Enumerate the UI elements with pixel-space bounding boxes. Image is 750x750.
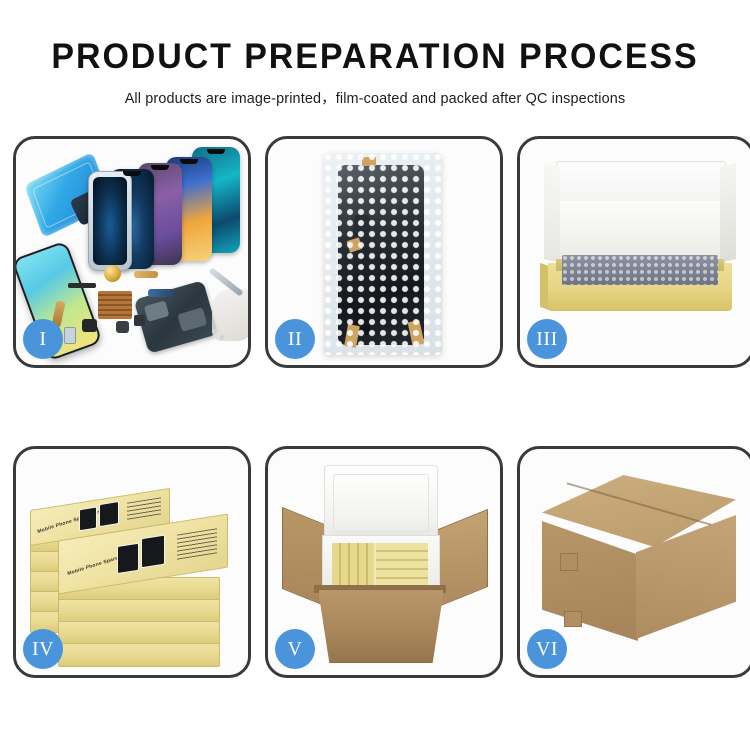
flex-cable-graphic: [134, 271, 158, 278]
camera-module-graphic: [116, 321, 129, 333]
step-badge-6: VI: [527, 629, 567, 669]
carton-left-face-graphic: [542, 521, 638, 641]
stacked-box: [58, 599, 220, 623]
packed-yellow-boxes-graphic: [332, 543, 428, 585]
chip-component-graphic: [134, 315, 145, 326]
hand-graphic: [212, 289, 248, 341]
carton-tape-patch-graphic: [560, 553, 578, 571]
bubble-wrapped-contents-graphic: [562, 255, 718, 285]
page-subtitle: All products are image-printed，film-coat…: [0, 87, 750, 108]
box-spec-lines: [177, 528, 217, 560]
boxes-vertical-group: [332, 543, 374, 585]
phone-notch-icon: [180, 159, 198, 164]
sim-tray-graphic: [64, 327, 76, 344]
process-step-panel-6[interactable]: VI: [517, 446, 750, 678]
process-step-panel-3[interactable]: III: [517, 136, 750, 368]
process-step-panel-5[interactable]: V: [265, 446, 503, 678]
process-step-panel-1[interactable]: I: [13, 136, 251, 368]
phone-notch-icon: [123, 171, 141, 176]
foam-box-lid-graphic: [324, 465, 438, 541]
box-spec-lines: [127, 497, 161, 521]
bubble-wrap-bag-graphic: [324, 153, 442, 355]
copper-shield-grid-graphic: [98, 291, 132, 319]
page-title: PRODUCT PREPARATION PROCESS: [11, 38, 739, 76]
stacked-box: [58, 621, 220, 645]
box-artwork-phone-icon: [141, 535, 165, 569]
process-step-panel-2[interactable]: II: [265, 136, 503, 368]
flex-cable-graphic: [148, 289, 174, 297]
box-lid-side-flap-graphic: [544, 163, 560, 263]
step-badge-4: IV: [23, 629, 63, 669]
box-artwork-phone-icon: [99, 501, 119, 527]
page-header: PRODUCT PREPARATION PROCESS All products…: [0, 0, 750, 108]
box-artwork-phone-icon: [117, 543, 139, 574]
step-badge-5: V: [275, 629, 315, 669]
step-badge-3: III: [527, 319, 567, 359]
carton-front-panel-graphic: [318, 589, 444, 663]
phone-notch-icon: [207, 149, 225, 154]
phone-fan-group: [88, 147, 248, 277]
phone-notch-icon: [151, 165, 169, 170]
phone-back-housing-graphic: [134, 280, 219, 354]
box-lid-side-flap-graphic: [720, 163, 736, 263]
foam-sheet-graphic: [560, 201, 720, 261]
screen-glass-protector-graphic: [88, 171, 132, 271]
bubble-texture-overlay: [324, 153, 442, 355]
camera-module-graphic: [82, 319, 97, 332]
boxes-horizontal-group: [376, 543, 428, 585]
stacked-box: [58, 643, 220, 667]
speaker-module-graphic: [104, 265, 121, 282]
step-badge-2: II: [275, 319, 315, 359]
process-step-panel-4[interactable]: Mobile Phone Spare Parts Mobile Phone Sp…: [13, 446, 251, 678]
earpiece-bar-graphic: [68, 283, 96, 288]
carton-tape-patch-graphic: [564, 611, 582, 627]
box-artwork-phone-icon: [79, 506, 97, 531]
step-badge-1: I: [23, 319, 63, 359]
process-step-grid: I II III: [0, 136, 750, 678]
